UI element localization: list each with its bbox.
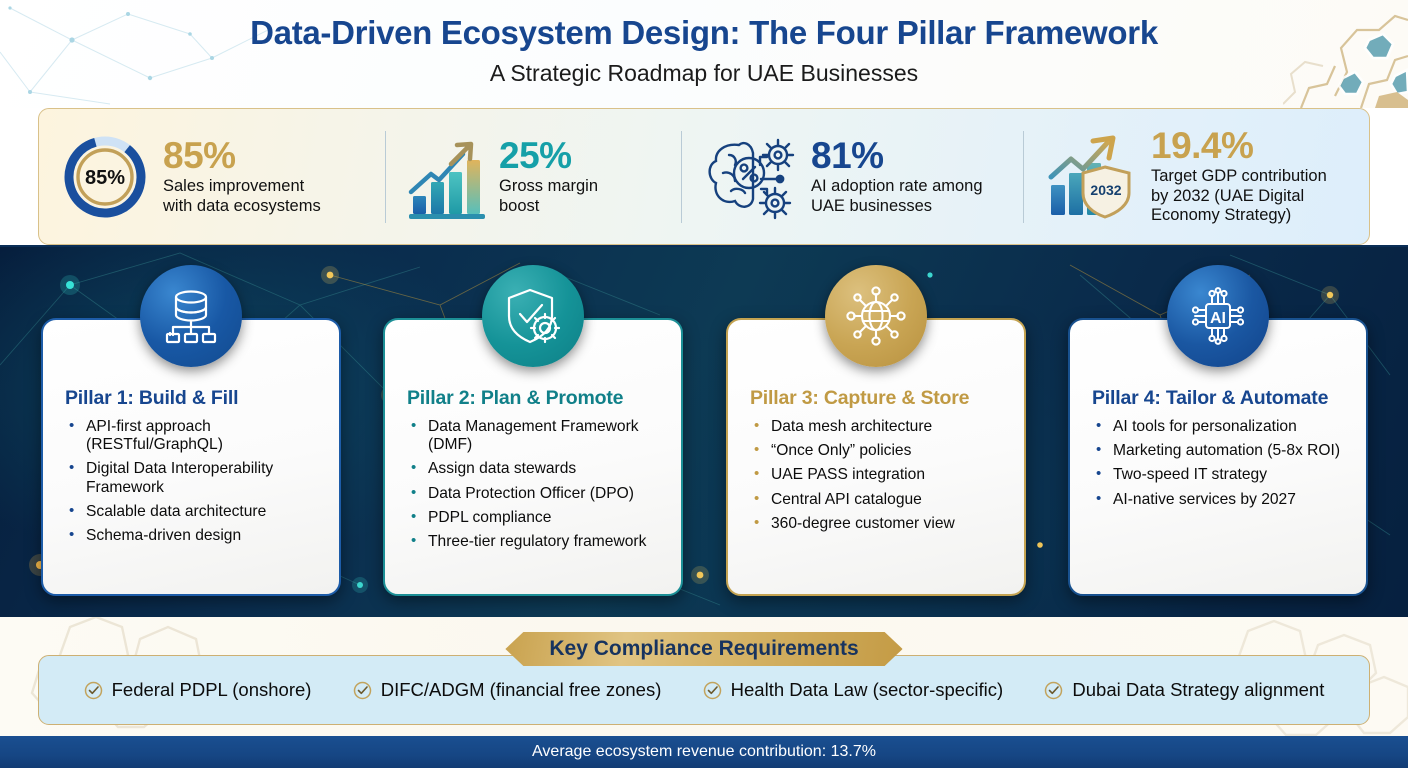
list-item: Three-tier regulatory framework bbox=[411, 533, 667, 551]
footer-text: Average ecosystem revenue contribution: … bbox=[532, 743, 876, 761]
list-item: Digital Data Interoperability Framework bbox=[69, 460, 325, 496]
check-circle-icon bbox=[1044, 681, 1063, 700]
pillar-title: Pillar 4: Tailor & Automate bbox=[1092, 387, 1352, 410]
database-hierarchy-icon bbox=[140, 265, 242, 367]
stat-card-gross-margin: 25% Gross margin boost bbox=[385, 123, 681, 231]
list-item: Data Protection Officer (DPO) bbox=[411, 485, 667, 503]
list-item: Data Management Framework (DMF) bbox=[411, 418, 667, 454]
brain-gears-percent-icon bbox=[705, 133, 799, 221]
pillar-card-4[interactable]: AI Pillar 4: Tailor & Automate AI tools … bbox=[1068, 318, 1368, 596]
donut-chart-icon: 85% bbox=[59, 131, 151, 223]
stat-label: Gross margin boost bbox=[499, 177, 598, 216]
stat-value: 81% bbox=[811, 137, 983, 174]
pillar-item-list: AI tools for personalization Marketing a… bbox=[1096, 418, 1352, 509]
compliance-item-label: Dubai Data Strategy alignment bbox=[1072, 679, 1324, 701]
header-banner: Data-Driven Ecosystem Design: The Four P… bbox=[0, 0, 1408, 108]
stat-label: Target GDP contribution by 2032 (UAE Dig… bbox=[1151, 167, 1327, 225]
list-item: Schema-driven design bbox=[69, 527, 325, 545]
list-item: AI-native services by 2027 bbox=[1096, 491, 1352, 509]
compliance-item-label: DIFC/ADGM (financial free zones) bbox=[381, 679, 662, 701]
compliance-item-health-data-law: Health Data Law (sector-specific) bbox=[703, 679, 1003, 701]
stat-label: Sales improvement with data ecosystems bbox=[163, 177, 321, 216]
four-pillars-row: Pillar 1: Build & Fill API-first approac… bbox=[0, 245, 1408, 617]
list-item: Data mesh architecture bbox=[754, 418, 1010, 436]
stat-value: 85% bbox=[163, 137, 321, 174]
compliance-item-federal-pdpl: Federal PDPL (onshore) bbox=[84, 679, 312, 701]
stat-card-gdp-contribution: 2032 19.4% Target GDP contribution by 20… bbox=[1023, 123, 1369, 231]
page-title: Data-Driven Ecosystem Design: The Four P… bbox=[0, 14, 1408, 52]
check-circle-icon bbox=[84, 681, 103, 700]
stat-value: 19.4% bbox=[1151, 127, 1327, 164]
stat-card-ai-adoption: 81% AI adoption rate among UAE businesse… bbox=[681, 123, 1023, 231]
pillar-title: Pillar 3: Capture & Store bbox=[750, 387, 1010, 410]
list-item: API-first approach (RESTful/GraphQL) bbox=[69, 418, 325, 454]
list-item: “Once Only” policies bbox=[754, 442, 1010, 460]
ai-chip-icon: AI bbox=[1167, 265, 1269, 367]
svg-text:AI: AI bbox=[1210, 310, 1226, 327]
compliance-item-difc-adgm: DIFC/ADGM (financial free zones) bbox=[353, 679, 662, 701]
list-item: 360-degree customer view bbox=[754, 515, 1010, 533]
globe-network-icon bbox=[825, 265, 927, 367]
check-circle-icon bbox=[353, 681, 372, 700]
list-item: Assign data stewards bbox=[411, 460, 667, 478]
bar-chart-growth-icon bbox=[407, 134, 487, 220]
stat-value: 25% bbox=[499, 137, 598, 174]
compliance-item-dubai-data-strategy: Dubai Data Strategy alignment bbox=[1044, 679, 1324, 701]
pillar-item-list: Data Management Framework (DMF) Assign d… bbox=[411, 418, 667, 551]
pillar-item-list: Data mesh architecture “Once Only” polic… bbox=[754, 418, 1010, 533]
list-item: AI tools for personalization bbox=[1096, 418, 1352, 436]
pillar-title: Pillar 2: Plan & Promote bbox=[407, 387, 667, 410]
pillar-item-list: API-first approach (RESTful/GraphQL) Dig… bbox=[69, 418, 325, 545]
footer-bar: Average ecosystem revenue contribution: … bbox=[0, 736, 1408, 768]
pillar-card-1[interactable]: Pillar 1: Build & Fill API-first approac… bbox=[41, 318, 341, 596]
page-subtitle: A Strategic Roadmap for UAE Businesses bbox=[0, 60, 1408, 87]
stat-label: AI adoption rate among UAE businesses bbox=[811, 177, 983, 216]
shield-year-label: 2032 bbox=[1090, 182, 1121, 198]
key-stats-band: 85% 85% Sales improvement with data ecos… bbox=[38, 108, 1370, 245]
compliance-banner: Key Compliance Requirements bbox=[505, 632, 902, 666]
compliance-item-label: Health Data Law (sector-specific) bbox=[731, 679, 1003, 701]
compliance-banner-label: Key Compliance Requirements bbox=[505, 632, 902, 666]
list-item: UAE PASS integration bbox=[754, 466, 1010, 484]
pillar-title: Pillar 1: Build & Fill bbox=[65, 387, 325, 410]
pillar-card-3[interactable]: Pillar 3: Capture & Store Data mesh arch… bbox=[726, 318, 1026, 596]
list-item: Marketing automation (5-8x ROI) bbox=[1096, 442, 1352, 460]
compliance-item-label: Federal PDPL (onshore) bbox=[112, 679, 312, 701]
growth-shield-2032-icon: 2032 bbox=[1043, 133, 1139, 221]
list-item: Two-speed IT strategy bbox=[1096, 466, 1352, 484]
pillar-card-2[interactable]: Pillar 2: Plan & Promote Data Management… bbox=[383, 318, 683, 596]
shield-check-gear-icon bbox=[482, 265, 584, 367]
list-item: PDPL compliance bbox=[411, 509, 667, 527]
list-item: Central API catalogue bbox=[754, 491, 1010, 509]
list-item: Scalable data architecture bbox=[69, 503, 325, 521]
check-circle-icon bbox=[703, 681, 722, 700]
stat-card-sales-improvement: 85% 85% Sales improvement with data ecos… bbox=[39, 123, 385, 231]
donut-value-label: 85% bbox=[85, 167, 125, 189]
